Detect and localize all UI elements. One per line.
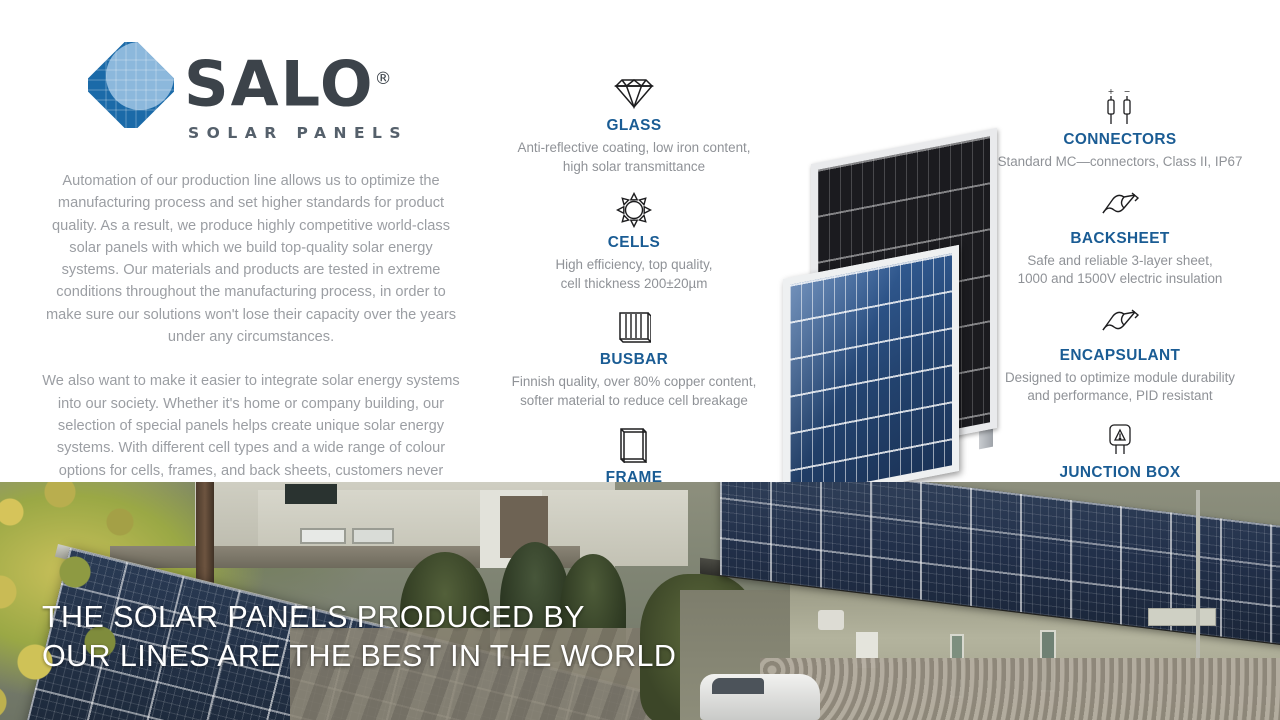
slide-canvas: SALO® SOLAR PANELS Automation of our pro… <box>0 0 1280 720</box>
hero-caption: THE SOLAR PANELS PRODUCED BY OUR LINES A… <box>42 598 942 676</box>
feature-title: BACKSHEET <box>970 230 1270 248</box>
polycrystalline-panel <box>783 245 959 505</box>
svg-text:+: + <box>1108 87 1115 96</box>
feature-glass: GLASS Anti-reflective coating, low iron … <box>484 72 784 176</box>
feature-desc-line-2: cell thickness 200±20µm <box>484 275 784 294</box>
feature-desc-line-2: softer material to reduce cell breakage <box>484 392 784 411</box>
feature-busbar: BUSBAR Finnish quality, over 80% copper … <box>484 306 784 410</box>
frame-icon <box>484 424 784 466</box>
feature-title: CONNECTORS <box>970 131 1270 149</box>
building-window-right <box>352 528 394 544</box>
feature-desc-line-2: high solar transmittance <box>484 158 784 177</box>
sheet-icon <box>970 302 1270 344</box>
feature-connectors: + − CONNECTORS Standard MC—connectors, C… <box>970 86 1270 172</box>
feature-title: ENCAPSULANT <box>970 347 1270 365</box>
feature-desc-line-1: High efficiency, top quality, <box>484 256 784 275</box>
feature-title: GLASS <box>484 117 784 135</box>
svg-text:−: − <box>1124 87 1131 96</box>
brand-tagline: SOLAR PANELS <box>184 124 408 142</box>
hero-photo: THE SOLAR PANELS PRODUCED BY OUR LINES A… <box>0 482 1280 720</box>
feature-description: Safe and reliable 3-layer sheet, 1000 an… <box>970 252 1270 289</box>
feature-title: BUSBAR <box>484 351 784 369</box>
building-window-upper <box>285 484 337 504</box>
solar-panel-diamond-logo-icon <box>88 42 174 128</box>
sheet-icon <box>970 185 1270 227</box>
brand-wordmark: SALO® SOLAR PANELS <box>184 48 408 142</box>
brand-name-text: SALO <box>184 48 375 121</box>
feature-description: Designed to optimize module durability a… <box>970 369 1270 406</box>
busbar-icon <box>484 306 784 348</box>
car-window <box>712 678 764 694</box>
feature-desc-line-2: and performance, PID resistant <box>970 387 1270 406</box>
feature-desc-line-1: Finnish quality, over 80% copper content… <box>484 373 784 392</box>
intro-copy: Automation of our production line allows… <box>42 170 460 504</box>
feature-title: CELLS <box>484 234 784 252</box>
feature-desc-line-2: 1000 and 1500V electric insulation <box>970 270 1270 289</box>
feature-description: Standard MC—connectors, Class II, IP67 <box>970 153 1270 172</box>
feature-column-left: GLASS Anti-reflective coating, low iron … <box>484 72 784 541</box>
poly-cell-surface <box>790 253 952 496</box>
brand-logo: SALO® SOLAR PANELS <box>88 38 428 143</box>
cell-grid-horizontal <box>790 253 952 496</box>
feature-desc-line-1: Designed to optimize module durability <box>970 369 1270 388</box>
junction-box-icon <box>970 419 1270 461</box>
hero-caption-line-2: OUR LINES ARE THE BEST IN THE WORLD <box>42 637 942 676</box>
hero-caption-line-1: THE SOLAR PANELS PRODUCED BY <box>42 598 942 637</box>
feature-description: High efficiency, top quality, cell thick… <box>484 256 784 293</box>
product-panels-image <box>783 146 999 488</box>
intro-paragraph-1: Automation of our production line allows… <box>42 170 460 348</box>
feature-backsheet: BACKSHEET Safe and reliable 3-layer shee… <box>970 185 1270 289</box>
connectors-icon: + − <box>970 86 1270 128</box>
feature-description: Finnish quality, over 80% copper content… <box>484 373 784 410</box>
diamond-icon <box>484 72 784 114</box>
feature-desc-line-1: Anti-reflective coating, low iron conten… <box>484 139 784 158</box>
feature-title: JUNCTION BOX <box>970 464 1270 482</box>
registered-mark: ® <box>375 69 394 89</box>
feature-encapsulant: ENCAPSULANT Designed to optimize module … <box>970 302 1270 406</box>
wall-vent <box>1148 608 1216 626</box>
brand-name: SALO® <box>184 48 408 116</box>
building-window-left <box>300 528 346 544</box>
feature-column-right: + − CONNECTORS Standard MC—connectors, C… <box>970 86 1270 536</box>
feature-desc-line-1: Standard MC—connectors, Class II, IP67 <box>970 153 1270 172</box>
feature-cells: CELLS High efficiency, top quality, cell… <box>484 189 784 293</box>
feature-description: Anti-reflective coating, low iron conten… <box>484 139 784 176</box>
sun-cell-icon <box>484 189 784 231</box>
feature-desc-line-1: Safe and reliable 3-layer sheet, <box>970 252 1270 271</box>
